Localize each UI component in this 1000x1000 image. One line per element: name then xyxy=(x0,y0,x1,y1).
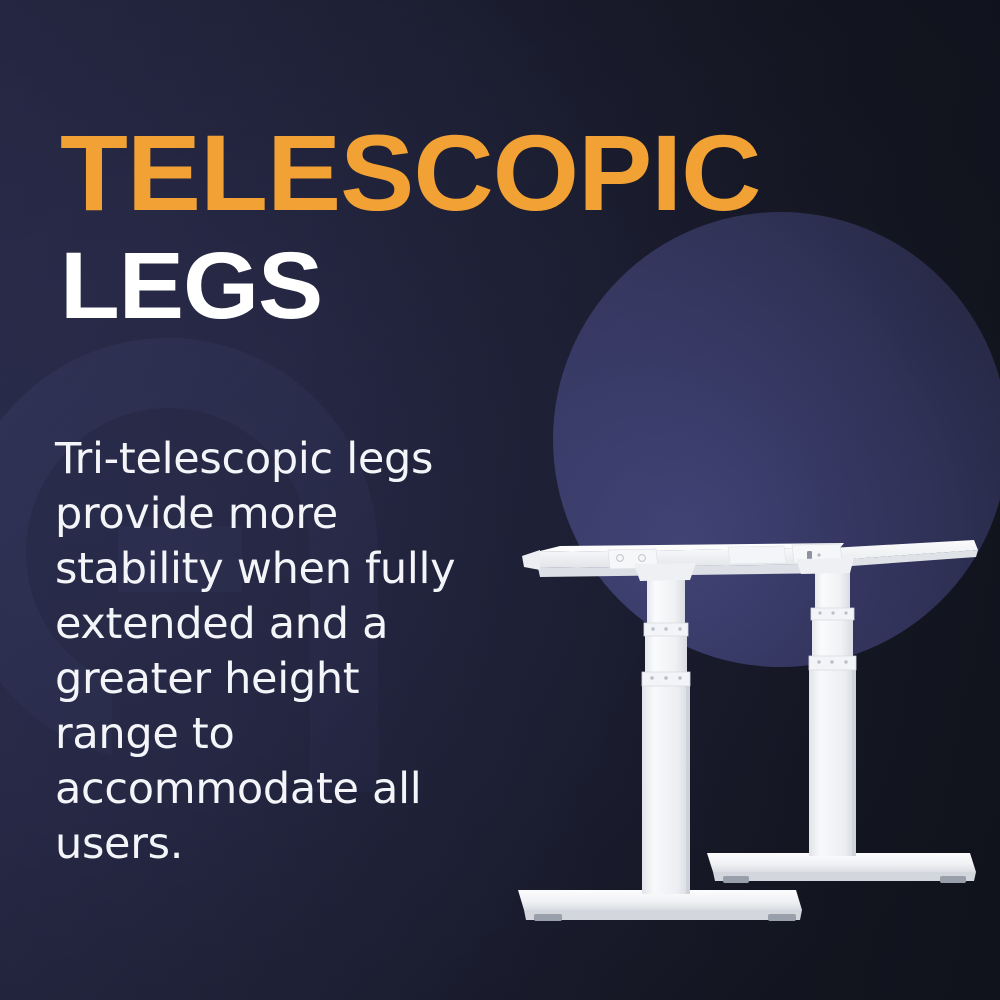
page-title-line1: TELESCOPIC xyxy=(60,120,987,226)
headline-block: TELESCOPIC LEGS xyxy=(60,120,960,333)
page-title-line2: LEGS xyxy=(60,240,987,333)
feature-card: TELESCOPIC LEGS Tri-telescopic legs prov… xyxy=(0,0,1000,1000)
body-description: Tri-telescopic legs provide more stabili… xyxy=(55,432,485,872)
product-image-desk-frame xyxy=(500,520,1000,940)
